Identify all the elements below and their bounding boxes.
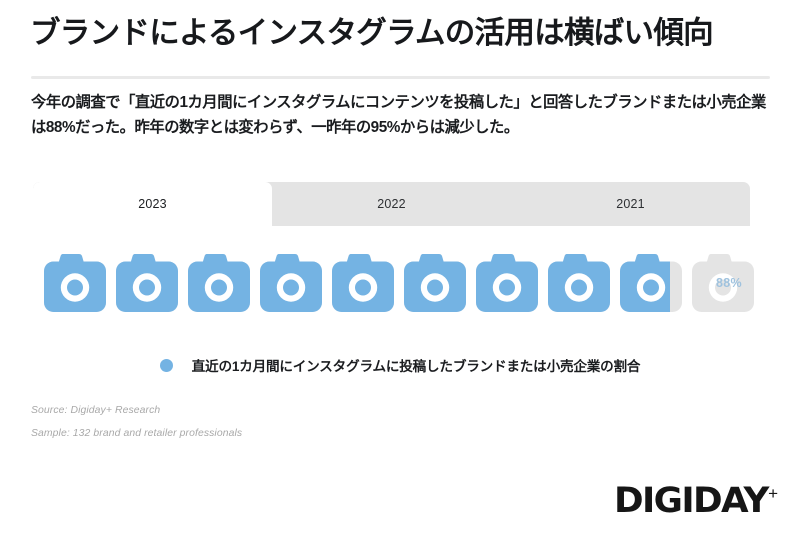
pictogram-chart <box>44 251 764 315</box>
page-title: ブランドによるインスタグラムの活用は横ばい傾向 <box>30 16 775 52</box>
camera-icon <box>260 251 322 315</box>
camera-icon-filled <box>548 251 610 315</box>
camera-icon <box>404 251 466 315</box>
camera-icon <box>116 251 178 315</box>
camera-icon-filled <box>260 251 322 315</box>
logo-plus-symbol: + <box>768 485 778 502</box>
sample-note: Sample: 132 brand and retailer professio… <box>31 428 242 439</box>
legend-color-swatch <box>160 359 173 372</box>
header-divider <box>31 76 770 79</box>
tab-2022[interactable]: 2022 <box>272 182 511 226</box>
camera-icon-filled <box>620 251 670 315</box>
camera-icon <box>476 251 538 315</box>
camera-icon-filled <box>476 251 538 315</box>
camera-icon <box>548 251 610 315</box>
pictogram-value-label: 88% <box>716 276 742 290</box>
camera-icon <box>44 251 106 315</box>
infographic-page: ブランドによるインスタグラムの活用は横ばい傾向 今年の調査で「直近の1カ月間にイ… <box>0 0 800 558</box>
tab-2023[interactable]: 2023 <box>33 182 272 226</box>
camera-icon-filled <box>332 251 394 315</box>
camera-icon <box>332 251 394 315</box>
logo-wordmark: DIGIDAY <box>614 484 768 519</box>
camera-icon-filled <box>116 251 178 315</box>
tab-2021[interactable]: 2021 <box>511 182 750 226</box>
camera-icon-filled <box>404 251 466 315</box>
digiday-logo: DIGIDAY + <box>614 484 778 519</box>
year-tab-bar[interactable]: 2023 2022 2021 <box>33 182 750 226</box>
camera-icon <box>620 251 682 315</box>
camera-icon <box>188 251 250 315</box>
chart-legend: 直近の1カ月間にインスタグラムに投稿したブランドまたは小売企業の割合 <box>0 355 800 375</box>
camera-icon-filled <box>44 251 106 315</box>
camera-icon-filled <box>188 251 250 315</box>
source-note: Source: Digiday+ Research <box>31 405 160 416</box>
page-subtitle: 今年の調査で「直近の1カ月間にインスタグラムにコンテンツを投稿した」と回答したブ… <box>31 91 779 141</box>
legend-label: 直近の1カ月間にインスタグラムに投稿したブランドまたは小売企業の割合 <box>192 355 641 375</box>
